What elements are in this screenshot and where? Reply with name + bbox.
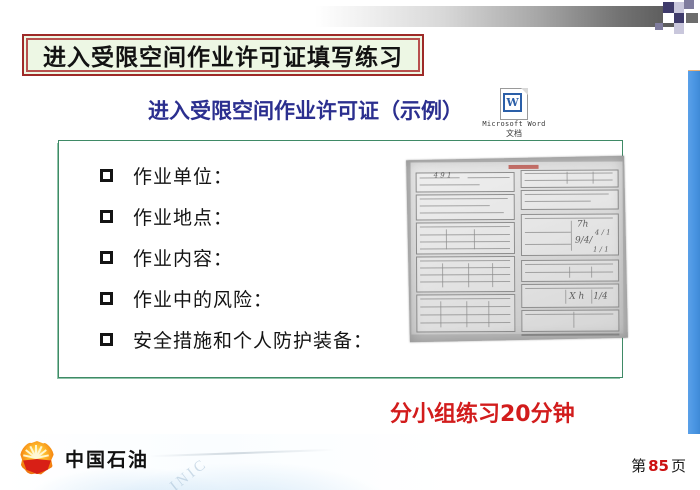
checkbox-square-icon[interactable] — [100, 169, 113, 182]
page-number-indicator: 第85页 — [631, 455, 686, 476]
list-item: 作业地点： — [100, 196, 400, 237]
embedded-word-document[interactable]: W Microsoft Word 文档 — [478, 88, 550, 136]
checkbox-square-icon[interactable] — [100, 333, 113, 346]
decor-block-8 — [655, 23, 663, 30]
list-item: 作业中的风险： — [100, 278, 400, 319]
decor-block-2 — [674, 2, 684, 13]
permit-form-photo[interactable]: 4 9 1 — [406, 156, 628, 343]
list-item: 作业单位： — [100, 155, 400, 196]
list-item-label: 作业地点： — [133, 203, 233, 230]
brand-lockup: 中国石油 — [18, 439, 149, 477]
top-gradient-bar — [315, 6, 683, 27]
list-item: 作业内容： — [100, 237, 400, 278]
permit-header-stamp — [508, 165, 538, 169]
checklist: 作业单位： 作业地点： 作业内容： 作业中的风险： 安全措施和个人防护装备： — [100, 155, 400, 360]
page-number-value: 85 — [646, 457, 671, 475]
decor-block-5 — [674, 13, 684, 23]
decor-block-6 — [686, 13, 698, 23]
permit-sheet: 4 9 1 — [411, 161, 624, 334]
permit-left-column: 4 9 1 — [416, 172, 516, 329]
petrochina-sunburst-logo-icon — [18, 439, 56, 477]
page-title: 进入受限空间作业许可证填写练习 — [43, 38, 403, 72]
word-object-caption-line1: Microsoft Word — [478, 120, 550, 129]
brand-name: 中国石油 — [65, 445, 149, 472]
permit-right-column: 7h 9/4/ 4 / 1 1 / 1 X h 1/4 — [521, 171, 620, 328]
page-label-prefix: 第 — [631, 457, 646, 475]
list-item-label: 安全措施和个人防护装备： — [133, 326, 373, 353]
checkbox-square-icon[interactable] — [100, 292, 113, 305]
right-blue-strip — [688, 70, 700, 446]
microsoft-word-document-icon[interactable]: W — [500, 88, 528, 120]
slide-subtitle: 进入受限空间作业许可证（示例） — [148, 95, 463, 125]
word-object-caption-line2: 文档 — [478, 129, 550, 138]
word-w-badge: W — [503, 93, 522, 112]
list-item-label: 作业内容： — [133, 244, 233, 271]
decor-block-4 — [663, 13, 674, 23]
decor-block-3 — [684, 0, 694, 9]
list-item-label: 作业中的风险： — [133, 285, 273, 312]
decor-block-7 — [674, 23, 684, 34]
list-item: 安全措施和个人防护装备： — [100, 319, 400, 360]
practice-note: 分小组练习20分钟 — [390, 396, 575, 428]
checkbox-square-icon[interactable] — [100, 251, 113, 264]
page-label-suffix: 页 — [671, 457, 686, 475]
decor-block-1 — [663, 2, 674, 13]
checkbox-square-icon[interactable] — [100, 210, 113, 223]
list-item-label: 作业单位： — [133, 162, 233, 189]
slide-title-plaque: 进入受限空间作业许可证填写练习 — [22, 34, 424, 76]
slide-canvas: 进入受限空间作业许可证填写练习 进入受限空间作业许可证（示例） W Micros… — [0, 0, 700, 490]
